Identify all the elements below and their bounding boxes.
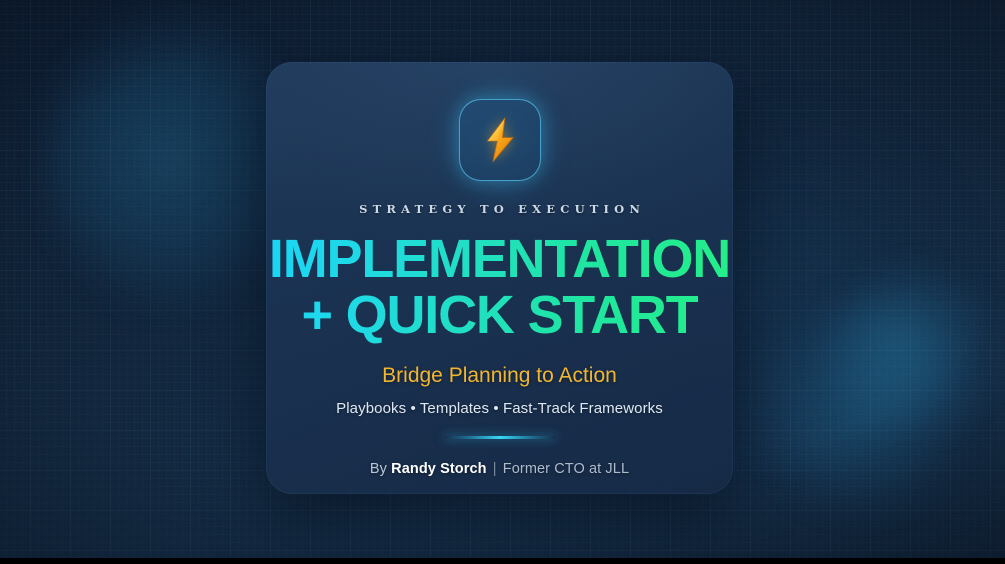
byline-role: Former CTO at JLL — [503, 461, 629, 477]
page-title: IMPLEMENTATION + QUICK START — [266, 232, 733, 346]
byline-separator: | — [493, 461, 497, 477]
icon-box — [459, 99, 541, 181]
divider — [444, 436, 556, 439]
byline-prefix: By — [370, 461, 387, 477]
title-line-2: + QUICK START — [269, 288, 730, 342]
byline-author: Randy Storch — [391, 461, 486, 477]
icon-badge — [459, 99, 541, 181]
card-content: STRATEGY TO EXECUTION IMPLEMENTATION + Q… — [266, 62, 733, 477]
lightning-bolt-icon — [480, 117, 520, 163]
subtitle: Bridge Planning to Action — [382, 364, 617, 388]
title-card: STRATEGY TO EXECUTION IMPLEMENTATION + Q… — [266, 62, 733, 494]
letterbox-bar-bottom — [0, 558, 1005, 564]
tagline: Playbooks • Templates • Fast-Track Frame… — [336, 400, 663, 417]
byline: By Randy Storch | Former CTO at JLL — [370, 461, 629, 477]
eyebrow-label: STRATEGY TO EXECUTION — [354, 202, 645, 216]
slide-stage: STRATEGY TO EXECUTION IMPLEMENTATION + Q… — [0, 0, 1005, 564]
title-line-1: IMPLEMENTATION — [269, 232, 730, 286]
